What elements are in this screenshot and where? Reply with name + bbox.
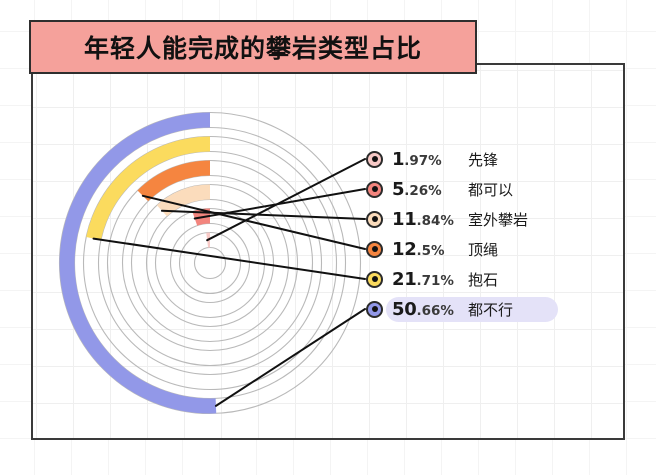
legend-value: 5.26% xyxy=(392,179,468,200)
legend-value-decimal: .26% xyxy=(404,183,441,199)
page-title: 年轻人能完成的攀岩类型占比 xyxy=(84,29,422,65)
ring-track-outline xyxy=(123,176,298,351)
value-arcs xyxy=(67,120,216,406)
legend-marker-icon xyxy=(366,181,383,198)
legend-label: 室外攀岩 xyxy=(468,209,528,230)
legend-item[interactable]: 11.84%室外攀岩 xyxy=(366,204,596,234)
legend-value: 50.66% xyxy=(392,299,468,320)
legend-value: 21.71% xyxy=(392,269,468,290)
leader-line xyxy=(216,309,365,406)
legend-value: 12.5% xyxy=(392,239,468,260)
legend-value-decimal: .71% xyxy=(416,273,453,289)
legend-marker-icon xyxy=(366,241,383,258)
legend-value-decimal: .97% xyxy=(404,153,441,169)
legend-item[interactable]: 50.66%都不行 xyxy=(366,294,596,324)
legend-value-integer: 12 xyxy=(392,239,416,260)
legend-marker-icon xyxy=(366,271,383,288)
legend-item[interactable]: 5.26%都可以 xyxy=(366,174,596,204)
legend-value: 1.97% xyxy=(392,149,468,170)
leader-line xyxy=(94,239,365,279)
legend-marker-icon xyxy=(366,211,383,228)
radial-chart-poster: 年轻人能完成的攀岩类型占比 1.97%先锋5.26%都可以11.84%室外攀岩1… xyxy=(0,0,656,475)
legend-value-integer: 1 xyxy=(392,149,404,170)
legend-value-integer: 5 xyxy=(392,179,404,200)
legend-value-integer: 50 xyxy=(392,299,416,320)
legend-marker-icon xyxy=(366,151,383,168)
legend-label: 都不行 xyxy=(468,299,513,320)
legend-value-decimal: .5% xyxy=(416,243,444,259)
ring-track-outline xyxy=(156,209,265,318)
legend-item[interactable]: 21.71%抱石 xyxy=(366,264,596,294)
legend-value-decimal: .84% xyxy=(416,213,453,229)
ring-track-outline xyxy=(75,128,346,399)
chart-legend: 1.97%先锋5.26%都可以11.84%室外攀岩12.5%顶绳21.71%抱石… xyxy=(366,144,596,324)
legend-label: 抱石 xyxy=(468,269,498,290)
legend-item[interactable]: 12.5%顶绳 xyxy=(366,234,596,264)
legend-label: 都可以 xyxy=(468,179,513,200)
ring-track-outline xyxy=(108,161,313,366)
legend-label: 顶绳 xyxy=(468,239,498,260)
legend-label: 先锋 xyxy=(468,149,498,170)
ring-track-outline xyxy=(195,248,226,279)
legend-item[interactable]: 1.97%先锋 xyxy=(366,144,596,174)
chart-title-banner: 年轻人能完成的攀岩类型占比 xyxy=(29,20,477,74)
ring-track-outline xyxy=(171,224,250,303)
legend-value-integer: 21 xyxy=(392,269,416,290)
legend-marker-icon xyxy=(366,301,383,318)
legend-value-decimal: .66% xyxy=(416,303,453,319)
legend-value-integer: 11 xyxy=(392,209,416,230)
legend-value: 11.84% xyxy=(392,209,468,230)
